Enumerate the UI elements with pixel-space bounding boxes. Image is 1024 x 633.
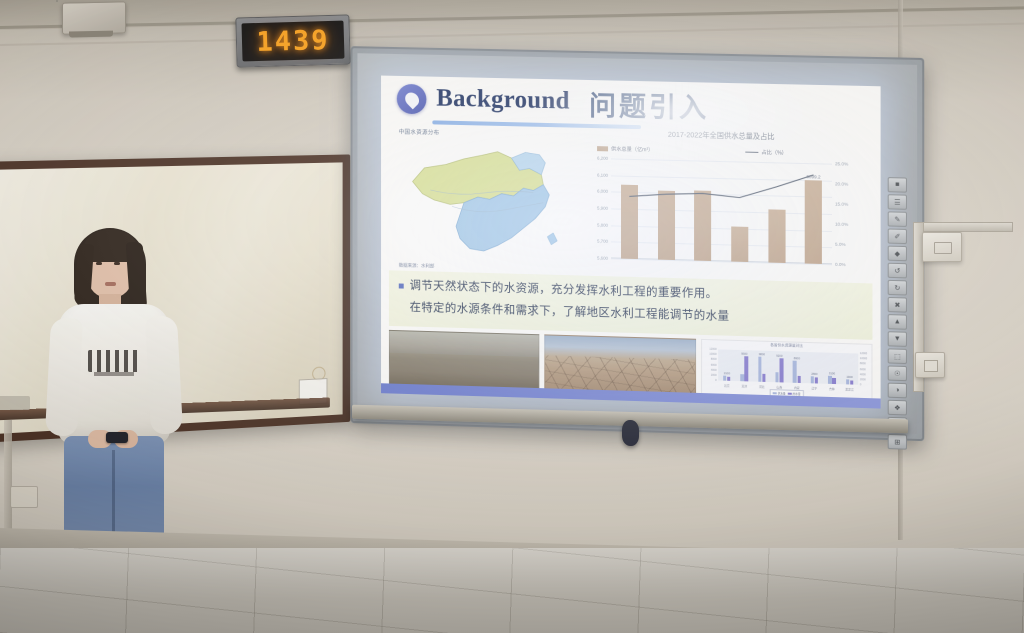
classroom-presentation-scene: 1439 Background 问题引入 中国水资源分布 xyxy=(0,0,1024,633)
scene-vignette xyxy=(0,0,1024,633)
